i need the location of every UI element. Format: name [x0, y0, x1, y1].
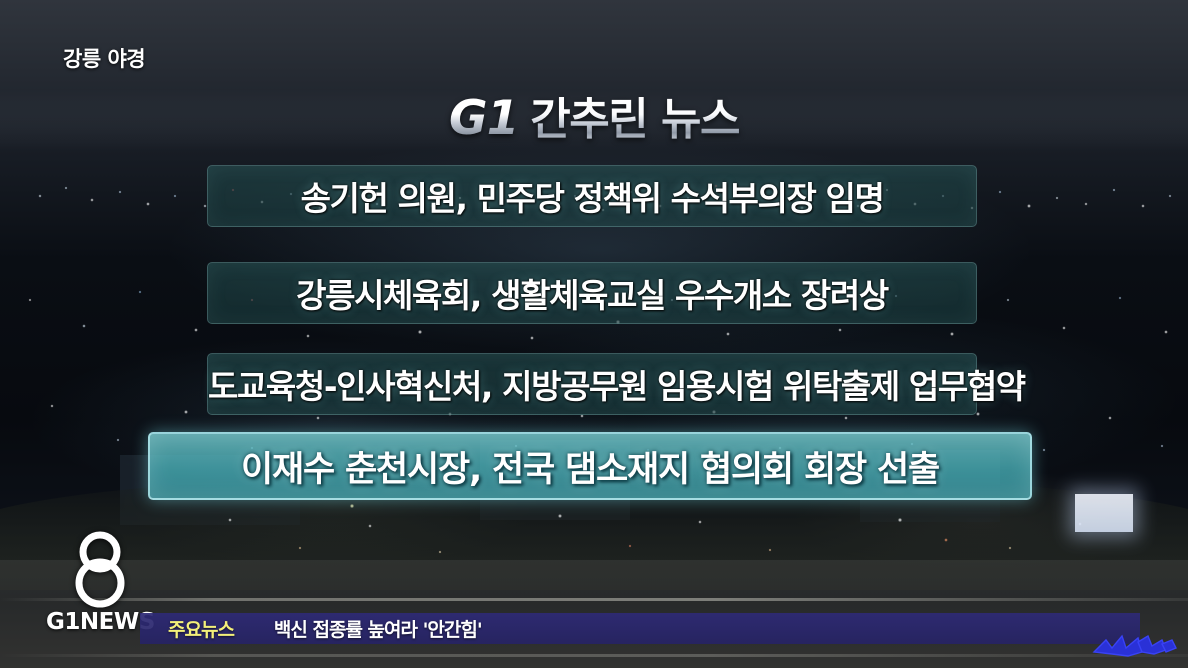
- g1-brand-logotype: G1: [449, 91, 518, 146]
- headline-text: 강릉시체육회, 생활체육교실 우수개소 장려상: [208, 269, 976, 317]
- headline-text: 도교육청-인사혁신처, 지방공무원 임용시험 위탁출제 업무협약: [208, 360, 976, 408]
- headline-item-2[interactable]: 강릉시체육회, 생활체육교실 우수개소 장려상: [207, 262, 977, 324]
- headline-item-4-active[interactable]: 이재수 춘천시장, 전국 댐소재지 협의회 회장 선출: [148, 432, 1032, 500]
- figure-eight-mark-icon: [61, 528, 139, 608]
- headline-item-3[interactable]: 도교육청-인사혁신처, 지방공무원 임용시험 위탁출제 업무협약: [207, 353, 977, 415]
- ticker-label: 주요뉴스: [168, 615, 234, 642]
- blue-script-watermark-icon: [1086, 622, 1182, 666]
- location-caption: 강릉 야경: [63, 43, 145, 73]
- station-logo: G1NEWS: [46, 528, 154, 635]
- show-title-text: 간추린 뉴스: [530, 94, 739, 145]
- headline-item-1[interactable]: 송기헌 의원, 민주당 정책위 수석부의장 임명: [207, 165, 977, 227]
- headline-text: 이재수 춘천시장, 전국 댐소재지 협의회 회장 선출: [150, 441, 1030, 492]
- ticker-headline: 백신 접종률 높여라 '안간힘': [274, 615, 482, 642]
- lit-billboard: [1075, 494, 1133, 532]
- news-ticker: 주요뉴스 백신 접종률 높여라 '안간힘': [140, 613, 1140, 644]
- headline-text: 송기헌 의원, 민주당 정책위 수석부의장 임명: [208, 172, 976, 220]
- page-title: G1간추린 뉴스: [0, 83, 1188, 147]
- station-wordmark: G1NEWS: [46, 609, 154, 635]
- broadcast-screen: 강릉 야경 G1간추린 뉴스 송기헌 의원, 민주당 정책위 수석부의장 임명 …: [0, 0, 1188, 668]
